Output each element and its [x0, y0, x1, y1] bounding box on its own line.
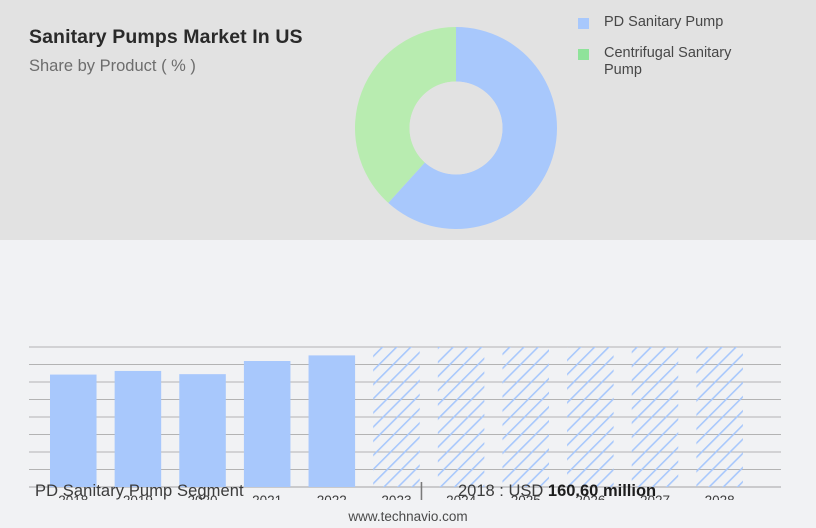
bar-chart: 2018201920202021202220232024202520262027… [0, 290, 816, 500]
bar-forecast[interactable] [373, 347, 420, 487]
legend-swatch-centrifugal-sanitary-pump [578, 49, 589, 60]
bar-forecast[interactable] [502, 347, 549, 487]
legend-label-centrifugal-sanitary-pump: Centrifugal Sanitary Pump [604, 45, 764, 79]
title-block: Sanitary Pumps Market In US Share by Pro… [29, 26, 359, 76]
footer-value-block: 2018 : USD 160.60 million [458, 482, 656, 501]
bar-historical[interactable] [50, 375, 97, 487]
donut-chart [355, 27, 557, 229]
bar-historical[interactable] [309, 355, 356, 487]
donut-hole [410, 82, 503, 175]
bar-forecast[interactable] [696, 347, 743, 487]
footer-value-prefix: 2018 : USD [458, 482, 543, 500]
legend-item-pd-sanitary-pump[interactable]: PD Sanitary Pump [578, 14, 808, 31]
bar-forecast[interactable] [438, 347, 485, 487]
legend-swatch-pd-sanitary-pump [578, 18, 589, 29]
page-title: Sanitary Pumps Market In US [29, 26, 359, 48]
footer-url: www.technavio.com [0, 509, 816, 524]
legend-item-centrifugal-sanitary-pump[interactable]: Centrifugal Sanitary Pump [578, 45, 808, 79]
legend-label-pd-sanitary-pump: PD Sanitary Pump [604, 14, 723, 31]
donut-chart-panel: Sanitary Pumps Market In US Share by Pro… [0, 0, 816, 240]
bar-forecast[interactable] [567, 347, 614, 487]
footer-segment-label: PD Sanitary Pump Segment [35, 482, 244, 501]
footer-divider: | [419, 480, 424, 502]
bar-historical[interactable] [115, 371, 162, 487]
bars [50, 347, 743, 487]
bar-forecast[interactable] [632, 347, 679, 487]
footer-value: 160.60 million [548, 482, 656, 500]
legend: PD Sanitary Pump Centrifugal Sanitary Pu… [578, 14, 808, 93]
page-subtitle: Share by Product ( % ) [29, 57, 359, 76]
donut-chart-svg [355, 27, 557, 229]
footer: PD Sanitary Pump Segment | 2018 : USD 16… [0, 475, 816, 528]
bar-chart-svg: 2018201920202021202220232024202520262027… [0, 290, 816, 500]
bar-historical[interactable] [244, 361, 291, 487]
bar-historical[interactable] [179, 374, 226, 487]
